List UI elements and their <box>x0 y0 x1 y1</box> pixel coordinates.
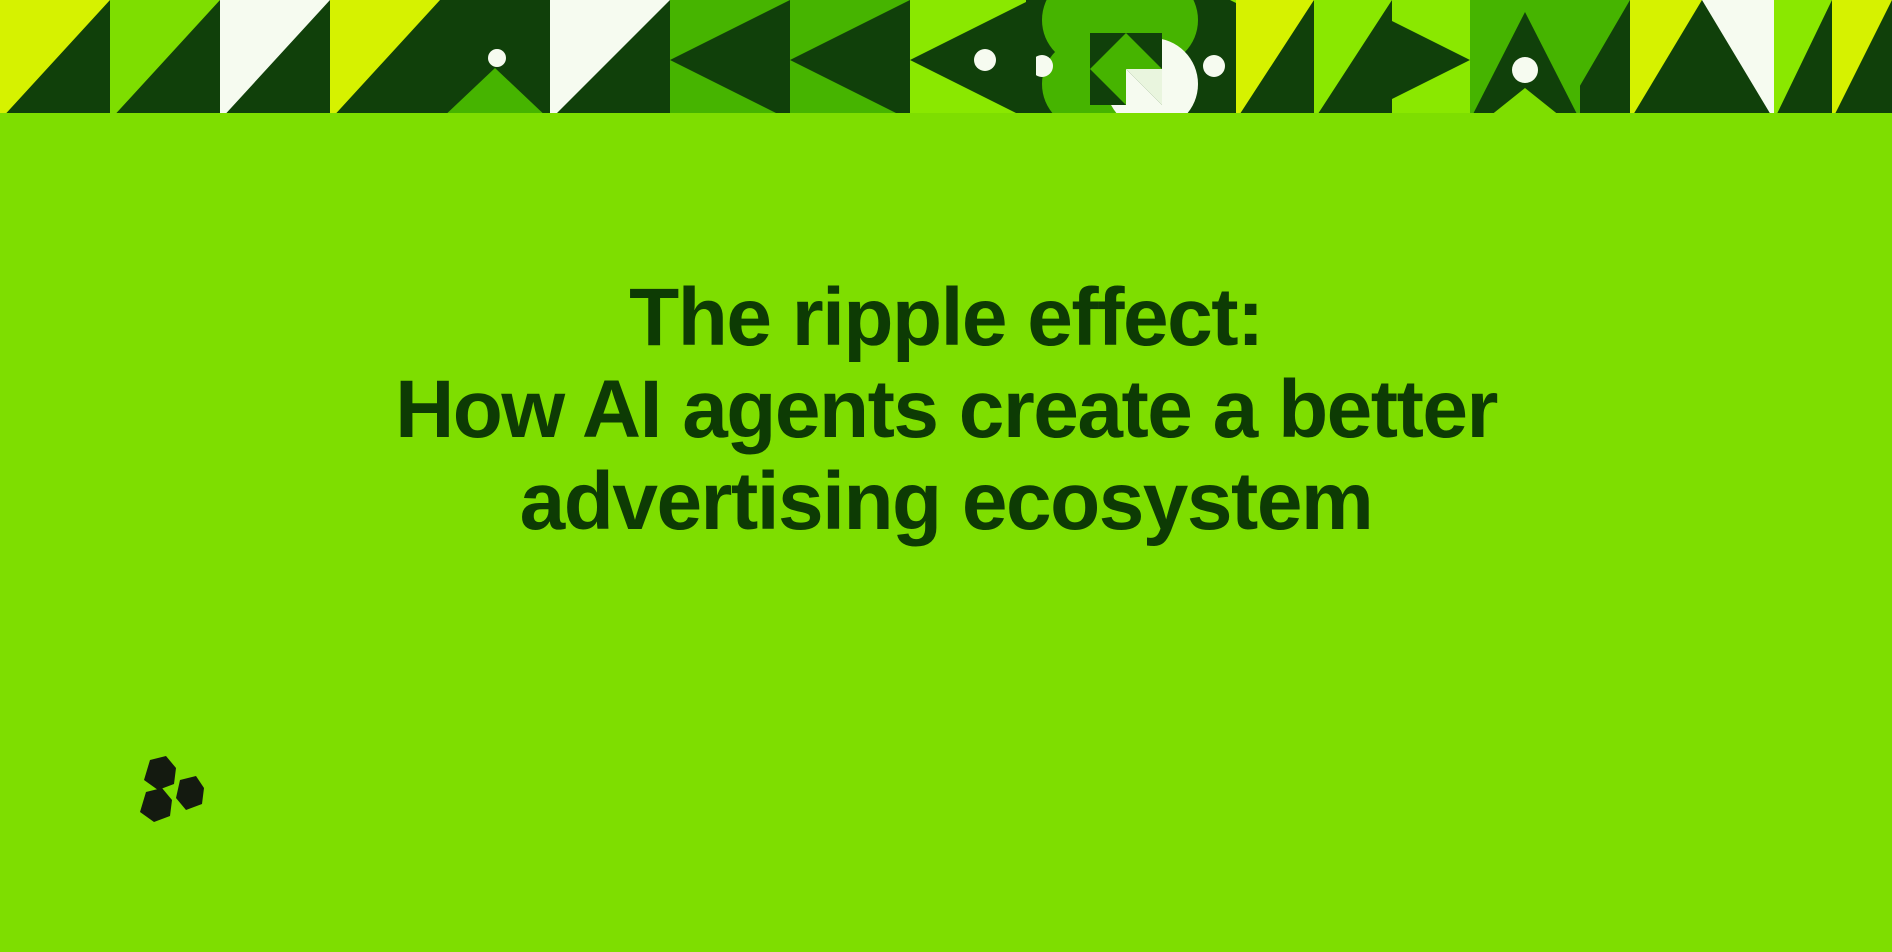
dot-accent-icon <box>488 49 506 67</box>
saw-cell-3 <box>220 0 330 120</box>
right-pattern-overlay <box>1026 0 1036 120</box>
far-right-saw-set <box>1560 0 1892 120</box>
header-pattern-svg <box>0 0 1892 120</box>
title-line-2: How AI agents create a better <box>0 364 1892 456</box>
page-title: The ripple effect: How AI agents create … <box>0 272 1892 548</box>
clover-quad-circles-motif <box>1030 0 1210 120</box>
dot-accent-icon <box>1512 57 1538 83</box>
logo-hex-right <box>176 776 204 810</box>
mid-saw-triangles <box>1236 0 1392 120</box>
decorative-geometric-band <box>0 0 1892 120</box>
title-line-1: The ripple effect: <box>0 272 1892 364</box>
saw-cell-1 <box>0 0 110 120</box>
saw-cell-4 <box>330 0 440 120</box>
three-hexagon-cluster-logo <box>130 752 206 828</box>
band-bottom-strip <box>0 113 1892 120</box>
chevron-with-dot <box>910 0 1030 120</box>
saw-cell-5-peak-dot <box>440 0 550 120</box>
logo-svg <box>130 752 206 828</box>
dot-accent-icon <box>974 49 996 71</box>
title-line-3: advertising ecosystem <box>0 456 1892 548</box>
chevron-group-left <box>550 0 910 120</box>
logo-hex-top <box>144 756 176 790</box>
slide-canvas: The ripple effect: How AI agents create … <box>0 0 1892 952</box>
peak-triangle-with-dot <box>1470 0 1580 120</box>
logo-hex-bottom-left <box>140 788 172 822</box>
dot-accent-icon <box>1203 55 1225 77</box>
saw-cell-2 <box>110 0 220 120</box>
